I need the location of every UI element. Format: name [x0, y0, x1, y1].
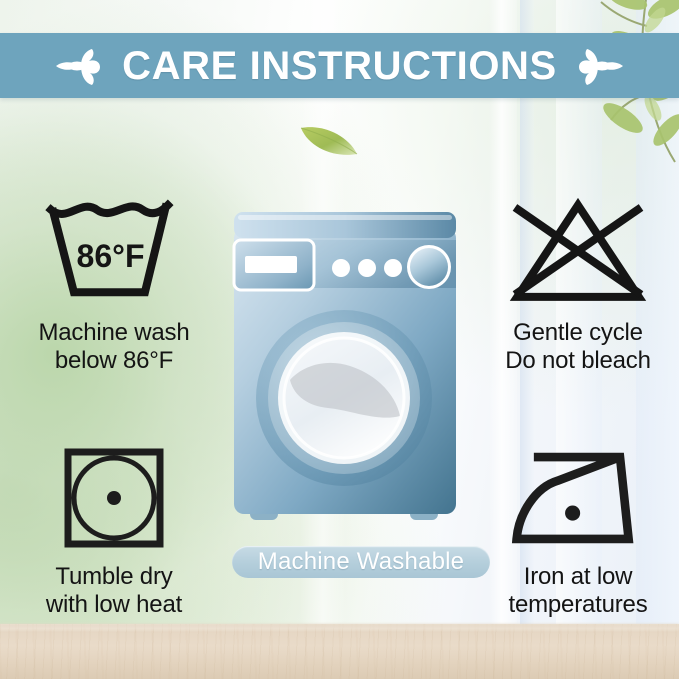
banner: CARE INSTRUCTIONS	[0, 33, 679, 98]
front-load-washing-machine-illustration	[228, 210, 463, 540]
control-dot-3	[384, 259, 402, 277]
table-edge-highlight	[0, 624, 679, 630]
care-instructions-graphic: CARE INSTRUCTIONS	[0, 0, 679, 679]
care-symbol-machine-wash: 86°F Machine wash below 86°F	[16, 196, 212, 375]
control-dot-2	[358, 259, 376, 277]
care-caption-machine-wash: Machine wash below 86°F	[38, 319, 189, 375]
iron-low-temperature-icon	[508, 446, 648, 555]
control-dot-1	[332, 259, 350, 277]
care-symbol-iron: Iron at low temperatures	[480, 446, 676, 619]
heat-dot-1	[107, 491, 121, 505]
care-caption-iron: Iron at low temperatures	[509, 563, 648, 619]
wood-grain-texture	[0, 624, 679, 679]
care-symbol-no-bleach: Gentle cycle Do not bleach	[480, 196, 676, 375]
fleur-de-lis-icon-right	[569, 44, 625, 88]
control-knob	[410, 248, 448, 286]
wash-tub-icon: 86°F	[39, 196, 189, 311]
floating-leaf-icon	[297, 118, 361, 160]
care-caption-tumble-dry: Tumble dry with low heat	[46, 563, 182, 619]
care-symbol-tumble-dry: Tumble dry with low heat	[16, 446, 212, 619]
triangle-crossed-out-icon	[503, 196, 653, 311]
care-caption-no-bleach: Gentle cycle Do not bleach	[505, 319, 651, 375]
wooden-table-surface	[0, 624, 679, 679]
wash-temp-value: 86°F	[77, 238, 145, 274]
tumble-dry-low-heat-icon	[62, 446, 166, 555]
drawer-handle	[245, 256, 297, 273]
fleur-de-lis-icon-left	[54, 44, 110, 88]
badge-label: Machine Washable	[258, 548, 464, 576]
page-title: CARE INSTRUCTIONS	[122, 46, 557, 86]
machine-washable-badge: Machine Washable	[232, 546, 490, 578]
heat-dot-1	[565, 506, 580, 521]
